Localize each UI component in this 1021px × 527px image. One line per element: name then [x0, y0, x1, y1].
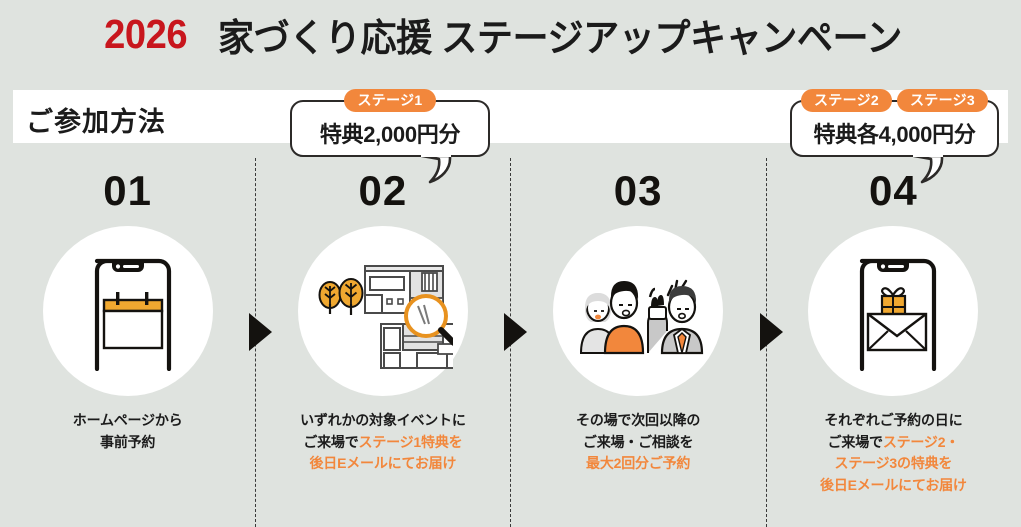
step-caption-01: ホームページから 事前予約 [73, 410, 183, 453]
stage-pill-group-1: ステージ1 [292, 89, 488, 112]
caption-line: いずれかの対象イベントに [300, 410, 466, 432]
benefit-amount-stage23: 特典各4,000円分 [792, 117, 997, 149]
caption-line: ご来場でステージ2・ [820, 432, 967, 454]
bubble-tail-icon-2 [912, 154, 946, 184]
benefit-amount-stage1: 特典2,000円分 [292, 117, 488, 149]
caption-line: ご来場でステージ1特典を [300, 432, 466, 454]
caption-line: ホームページから [73, 410, 183, 432]
tree-glyph [339, 279, 362, 315]
smartphone-calendar-icon [73, 251, 183, 371]
step-number-01: 01 [103, 170, 152, 212]
step-number-04: 04 [869, 170, 918, 212]
model-house-magnifier-icon [313, 246, 453, 376]
caption-line-accent: ステージ3の特典を [820, 453, 967, 475]
stage-pill-1: ステージ1 [344, 89, 435, 112]
caption-line-accent: 後日Eメールにてお届け [300, 453, 466, 475]
caption-segment: ご来場で [303, 434, 358, 450]
step-arrow-1-icon [249, 313, 272, 351]
step-icon-circle-03 [553, 226, 723, 396]
step-03: 03 [511, 158, 766, 527]
page-title: 2026 家づくり応援 ステージアップキャンペーン [0, 8, 1021, 60]
step-caption-02: いずれかの対象イベントに ご来場でステージ1特典を 後日Eメールにてお届け [300, 410, 466, 475]
step-arrow-3-icon [760, 313, 783, 351]
consultation-people-icon [568, 251, 708, 371]
stage-pill-3: ステージ3 [897, 89, 988, 112]
caption-segment: ご来場で [828, 434, 883, 450]
stage-pill-group-2: ステージ2 ステージ3 [792, 89, 997, 112]
page-title-main: 家づくり応援 ステージアップキャンペーン [218, 7, 902, 62]
step-caption-04: それぞれご予約の日に ご来場でステージ2・ ステージ3の特典を 後日Eメールにて… [820, 410, 967, 497]
benefit-bubble-stage1: ステージ1 特典2,000円分 [290, 100, 490, 157]
step-04: 04 それぞれご予 [766, 158, 1021, 527]
step-arrow-2-icon [504, 313, 527, 351]
envelope-glyph [868, 314, 926, 350]
step-icon-circle-01 [43, 226, 213, 396]
tree-glyph [319, 282, 340, 314]
stage-pill-2: ステージ2 [801, 89, 892, 112]
caption-line: 事前予約 [73, 432, 183, 454]
caption-line: その場で次回以降の [576, 410, 700, 432]
step-caption-03: その場で次回以降の ご来場・ご相談を 最大2回分ご予約 [576, 410, 700, 475]
step-icon-circle-04 [808, 226, 978, 396]
caption-line-accent: 最大2回分ご予約 [576, 453, 700, 475]
caption-line: それぞれご予約の日に [820, 410, 967, 432]
step-01: 01 ホームページから 事前予約 [0, 158, 255, 527]
bubble-tail-icon-1 [420, 154, 454, 184]
smartphone-gift-mail-icon [838, 251, 948, 371]
person-man-orange-glyph [605, 281, 643, 353]
steps-container: 01 ホームページから 事前予約 02 [0, 158, 1021, 527]
step-number-03: 03 [614, 170, 663, 212]
caption-line-accent: 後日Eメールにてお届け [820, 475, 967, 497]
benefit-bubble-stage23: ステージ2 ステージ3 特典各4,000円分 [790, 100, 999, 157]
caption-segment-accent: ステージ1特典を [359, 434, 463, 450]
page-title-year: 2026 [104, 11, 187, 58]
caption-segment-accent: ステージ2・ [883, 434, 959, 450]
step-number-02: 02 [359, 170, 408, 212]
step-02: 02 [255, 158, 510, 527]
step-icon-circle-02 [298, 226, 468, 396]
caption-line: ご来場・ご相談を [576, 432, 700, 454]
participation-method-label: ご参加方法 [26, 100, 166, 139]
